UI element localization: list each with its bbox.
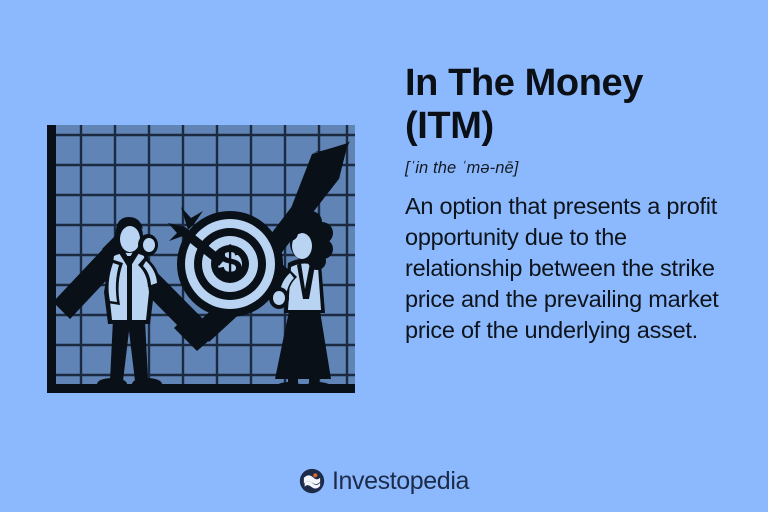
pronunciation-text: [ˈin the ˈmə-nē] [405,159,735,178]
y-axis [47,125,56,393]
definition-card: $ [0,0,768,512]
brand-name: Investopedia [332,469,469,494]
illustration-canvas: $ [39,123,357,402]
brand-footer: Investopedia [0,468,768,494]
definition-text: An option that presents a profit opportu… [405,191,735,346]
investopedia-logo-icon [299,468,325,494]
page-title: In The Money (ITM) [405,62,735,149]
definition-text-panel: In The Money (ITM) [ˈin the ˈmə-nē] An o… [405,62,735,346]
chart-illustration: $ [39,123,357,402]
x-axis [47,384,355,393]
